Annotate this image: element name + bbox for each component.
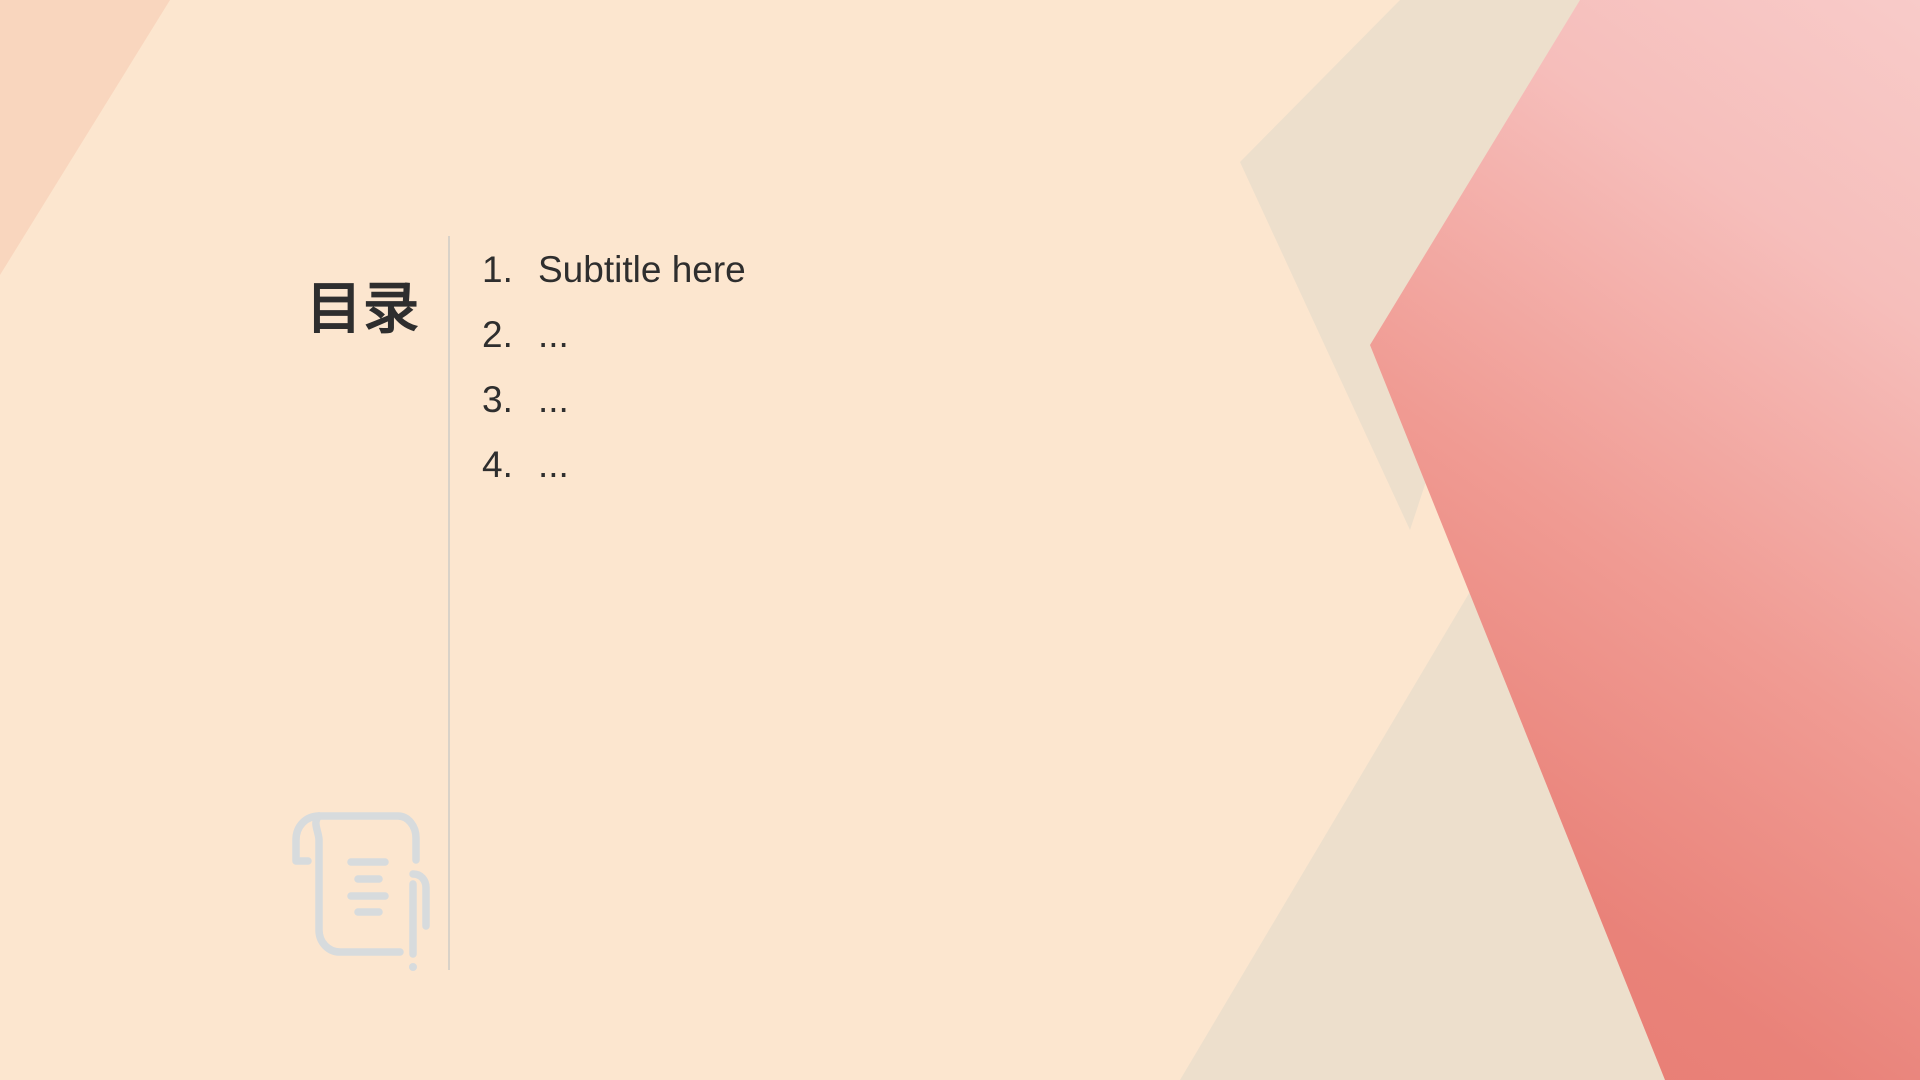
list-item-label: ...: [538, 443, 569, 487]
list-item-number: 2.: [482, 313, 538, 357]
list-item-label: ...: [538, 378, 569, 422]
page-title: 目录: [306, 281, 420, 337]
list-item-label: Subtitle here: [538, 248, 746, 292]
list-item-number: 1.: [482, 248, 538, 292]
vertical-divider: [448, 236, 450, 970]
scroll-document-icon: [288, 802, 438, 972]
list-item[interactable]: 2. ...: [482, 313, 1242, 378]
list-item[interactable]: 4. ...: [482, 443, 1242, 508]
list-item-label: ...: [538, 313, 569, 357]
list-item-number: 4.: [482, 443, 538, 487]
slide-content: 目录 1. Subtitle here 2. ... 3. ... 4. ...: [0, 0, 1920, 1080]
list-item[interactable]: 3. ...: [482, 378, 1242, 443]
toc-list: 1. Subtitle here 2. ... 3. ... 4. ...: [482, 248, 1242, 508]
list-item-number: 3.: [482, 378, 538, 422]
slide-canvas: 目录 1. Subtitle here 2. ... 3. ... 4. ...: [0, 0, 1920, 1080]
list-item[interactable]: 1. Subtitle here: [482, 248, 1242, 313]
